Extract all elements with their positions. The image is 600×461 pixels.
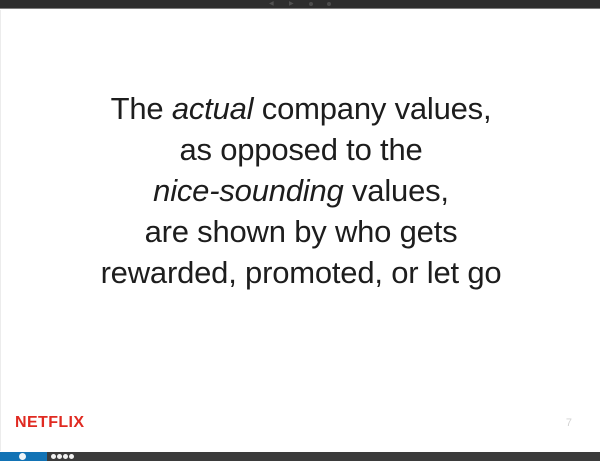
quote-run-1-2: actual xyxy=(172,91,254,126)
quote-run-1-3: company values, xyxy=(253,91,491,126)
quote-run-3-1: nice-sounding xyxy=(153,173,343,208)
progress-track[interactable] xyxy=(0,452,47,461)
quote-line-1: The actual company values, xyxy=(111,88,492,129)
back-arrow-icon[interactable]: ◀ xyxy=(269,1,275,7)
quote-run-1-1: The xyxy=(111,91,172,126)
quote-run-4-1: are shown by who gets xyxy=(145,214,458,249)
quote-line-4: are shown by who gets xyxy=(145,211,458,252)
progress-dot[interactable] xyxy=(69,454,74,459)
progress-dot[interactable] xyxy=(51,454,56,459)
slide-viewer: ◀ ▶ The actual company values, as oppose… xyxy=(0,0,600,461)
slide-page: The actual company values, as opposed to… xyxy=(0,10,600,451)
top-toolbar[interactable]: ◀ ▶ xyxy=(0,0,600,9)
forward-arrow-icon[interactable]: ▶ xyxy=(289,1,295,7)
scroll-thumb[interactable] xyxy=(19,453,26,460)
quote-line-2: as opposed to the xyxy=(179,129,422,170)
toolbar-icon-group: ◀ ▶ xyxy=(269,0,331,8)
menu-dots-icon-2[interactable] xyxy=(327,2,331,6)
quote-run-5-1: rewarded, promoted, or let go xyxy=(101,255,502,290)
quote-run-3-2: values, xyxy=(344,173,449,208)
page-number: 7 xyxy=(566,418,572,429)
bottom-scroll-bar[interactable] xyxy=(0,452,600,461)
quote-line-5: rewarded, promoted, or let go xyxy=(101,252,502,293)
netflix-logo: NETFLIX xyxy=(15,415,84,431)
progress-dot[interactable] xyxy=(57,454,62,459)
progress-dots[interactable] xyxy=(51,454,74,459)
menu-dots-icon[interactable] xyxy=(309,2,313,6)
quote-run-2-1: as opposed to the xyxy=(179,132,422,167)
slide-quote-block: The actual company values, as opposed to… xyxy=(1,10,600,400)
progress-dot[interactable] xyxy=(63,454,68,459)
quote-line-3: nice-sounding values, xyxy=(153,170,449,211)
